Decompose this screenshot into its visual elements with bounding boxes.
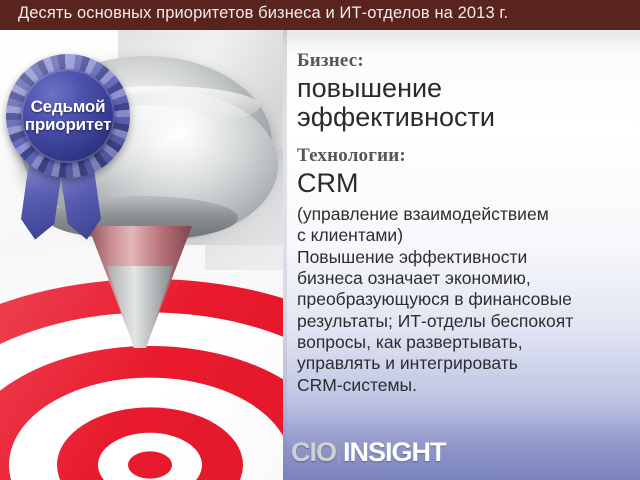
logo-text-insight: INSIGHT <box>343 437 446 468</box>
slide-canvas: Десять основных приоритетов бизнеса и ИТ… <box>0 0 640 480</box>
rosette-label-line2: приоритет <box>25 116 111 134</box>
page-title: Десять основных приоритетов бизнеса и ИТ… <box>18 4 508 23</box>
award-rosette-icon: Седьмой приоритет <box>2 48 134 238</box>
body-line6: управлять и интегрировать <box>297 353 632 374</box>
cio-insight-logo: CIO INSIGHT <box>291 437 446 468</box>
technology-subtitle-line1: (управление взаимодействием <box>297 204 632 225</box>
body-line3: преобразующуюся в финансовые <box>297 289 632 310</box>
technology-subtitle-line2: с клиентами) <box>297 225 632 246</box>
title-bar: Десять основных приоритетов бизнеса и ИТ… <box>0 0 640 30</box>
body-line1: Повышение эффективности <box>297 247 632 268</box>
panel-left-edge <box>283 30 287 480</box>
body-line2: бизнеса означает экономию, <box>297 268 632 289</box>
rosette-label-line1: Седьмой <box>31 98 106 116</box>
illustration-pane: Седьмой приоритет <box>0 30 285 480</box>
technology-kicker: Технологии: <box>297 145 632 167</box>
content-panel: Бизнес: повышение эффективности Технолог… <box>283 30 640 480</box>
logo-text-cio: CIO <box>291 437 336 468</box>
technology-headline: CRM <box>297 169 632 198</box>
business-kicker: Бизнес: <box>297 50 632 72</box>
business-headline-line1: повышение <box>297 74 632 103</box>
business-headline-line2: эффективности <box>297 103 632 132</box>
body-line7: CRM-системы. <box>297 375 632 396</box>
body-line4: результаты; ИТ-отделы беспокоят <box>297 311 632 332</box>
rosette-disc: Седьмой приоритет <box>21 69 115 163</box>
logo-divider <box>338 441 340 464</box>
target-bullseye-center <box>128 451 172 478</box>
body-line5: вопросы, как развертывать, <box>297 332 632 353</box>
